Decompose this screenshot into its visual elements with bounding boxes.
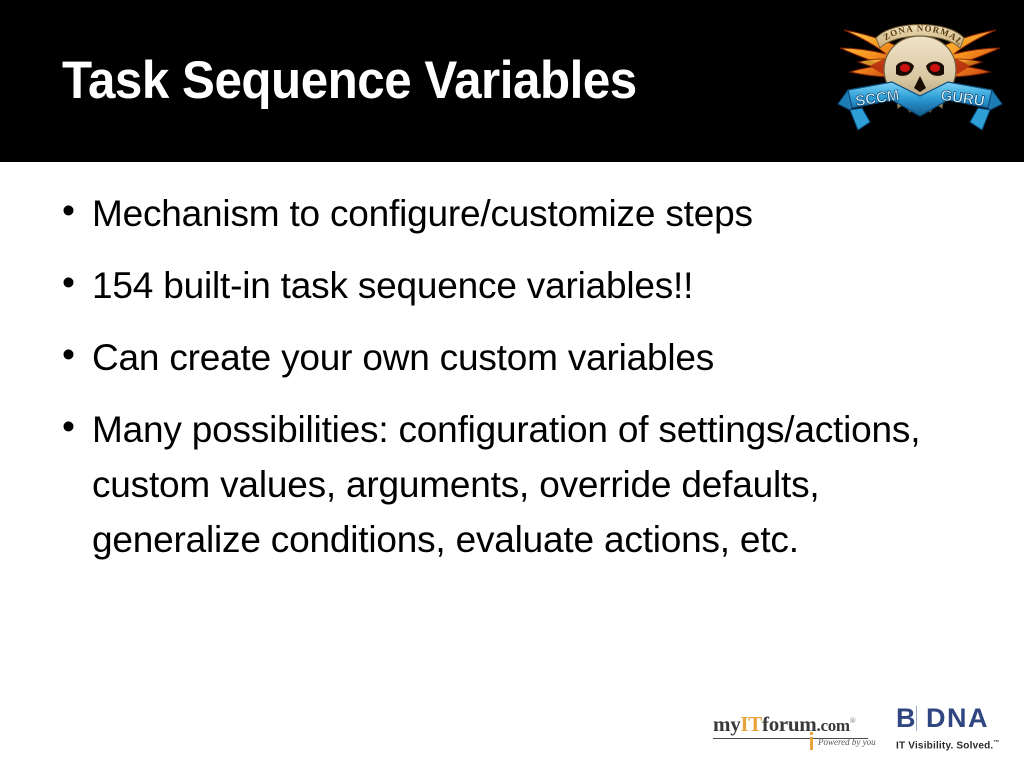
bdna-tagline-text: IT Visibility. Solved. bbox=[896, 740, 993, 751]
title-bar: Task Sequence Variables bbox=[0, 0, 1024, 162]
slide: Task Sequence Variables bbox=[0, 0, 1024, 768]
bdna-divider bbox=[916, 706, 917, 731]
bdna-logo: BDNA IT Visibility. Solved.™ bbox=[896, 704, 1006, 752]
svg-text:ZONA NORMALIZE: ZONA NORMALIZE bbox=[832, 4, 966, 47]
myitforum-i-bar-icon bbox=[810, 737, 813, 750]
list-item-label: 154 built-in task sequence variables!! bbox=[92, 258, 956, 313]
bullet-icon: • bbox=[56, 330, 92, 380]
list-item: • Can create your own custom variables bbox=[56, 330, 956, 385]
myitforum-forum: forum bbox=[762, 712, 817, 736]
page-title: Task Sequence Variables bbox=[62, 52, 637, 110]
bdna-dna: DNA bbox=[926, 703, 989, 733]
list-item-label: Many possibilities: configuration of set… bbox=[92, 402, 932, 567]
list-item-label: Mechanism to configure/customize steps bbox=[92, 186, 956, 241]
list-item: • 154 built-in task sequence variables!! bbox=[56, 258, 956, 313]
list-item: • Mechanism to configure/customize steps bbox=[56, 186, 956, 241]
footer: myITforum.com® Powered by you BDNA IT Vi… bbox=[0, 700, 1024, 760]
logo-top-banner-text: ZONA NORMALIZE bbox=[832, 4, 966, 47]
bdna-tagline: IT Visibility. Solved.™ bbox=[896, 737, 1006, 752]
bullet-icon: • bbox=[56, 402, 92, 452]
myitforum-wordmark: myITforum.com® bbox=[713, 710, 873, 737]
myitforum-my: my bbox=[713, 712, 740, 736]
bdna-wordmark: BDNA bbox=[896, 704, 1006, 733]
bullet-list: • Mechanism to configure/customize steps… bbox=[56, 186, 956, 584]
myitforum-logo: myITforum.com® Powered by you bbox=[713, 710, 873, 752]
bullet-icon: • bbox=[56, 186, 92, 236]
list-item-label: Can create your own custom variables bbox=[92, 330, 956, 385]
sccm-guru-logo: ZONA NORMALIZE SCC bbox=[832, 4, 1008, 136]
myitforum-trademark: ® bbox=[850, 716, 856, 725]
myitforum-tagline: Powered by you bbox=[818, 737, 876, 747]
myitforum-i-dot-icon bbox=[810, 732, 813, 735]
myitforum-it: IT bbox=[740, 712, 762, 736]
bdna-trademark: ™ bbox=[993, 740, 999, 746]
list-item: • Many possibilities: configuration of s… bbox=[56, 402, 956, 567]
myitforum-domain: .com bbox=[817, 716, 850, 735]
myitforum-tagline-row: Powered by you bbox=[713, 741, 873, 755]
bullet-icon: • bbox=[56, 258, 92, 308]
bdna-b: B bbox=[896, 703, 917, 733]
